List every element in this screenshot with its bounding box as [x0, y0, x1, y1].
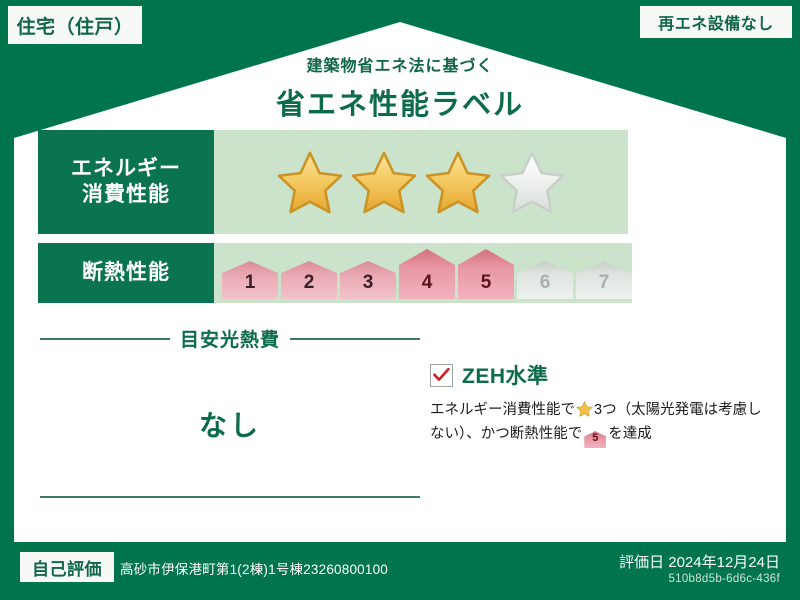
zeh-title: ZEH水準	[462, 360, 549, 390]
insulation-level-6: 6	[517, 261, 573, 299]
utility-cost-value: なし	[40, 404, 420, 444]
utility-cost-underline	[40, 496, 420, 498]
energy-performance-label: エネルギー 消費性能	[38, 130, 214, 234]
inline-star-icon	[576, 401, 593, 417]
utility-cost-heading: 目安光熱費	[40, 325, 420, 352]
energy-performance-value	[214, 130, 628, 234]
label-footer: 自己評価 高砂市伊保港町第1(2棟)1号棟23260800100 評価日 202…	[0, 542, 800, 600]
badge-evaluation-type: 自己評価	[20, 552, 114, 582]
heading-rule-left	[40, 338, 170, 340]
footer-address: 高砂市伊保港町第1(2棟)1号棟23260800100	[120, 558, 388, 578]
energy-label-line2: 消費性能	[82, 182, 170, 208]
zeh-description: エネルギー消費性能で 3つ（太陽光発電は考慮しない）、かつ断熱性能で5を達成	[430, 399, 766, 448]
badge-dwelling-type: 住宅（住戸）	[8, 6, 142, 44]
zeh-checkbox[interactable]	[430, 364, 453, 387]
insulation-label-text: 断熱性能	[82, 260, 170, 286]
insulation-level-7: 7	[576, 261, 632, 299]
star-empty-icon	[498, 150, 566, 215]
page-title-block: 建築物省エネ法に基づく 省エネ性能ラベル	[0, 52, 800, 123]
insulation-level-4: 4	[399, 249, 455, 299]
insulation-performance-row: 断熱性能 1234567	[38, 243, 628, 303]
star-filled-icon	[350, 150, 418, 215]
footer-label-id: 510b8d5b-6d6c-436f	[668, 573, 780, 585]
badge-renewable-equipment: 再エネ設備なし	[640, 6, 792, 38]
insulation-level-1: 1	[222, 261, 278, 299]
utility-cost-section: 目安光熱費 なし	[40, 325, 420, 498]
insulation-level-3: 3	[340, 261, 396, 299]
zeh-desc-part3: を達成	[608, 426, 652, 442]
zeh-desc-part1: エネルギー消費性能で	[430, 402, 575, 418]
heading-rule-right	[290, 338, 420, 340]
zeh-title-row: ZEH水準	[430, 360, 766, 390]
star-rating	[276, 150, 566, 215]
utility-cost-title: 目安光熱費	[180, 325, 280, 352]
insulation-performance-value: 1234567	[214, 243, 632, 303]
page-subtitle: 建築物省エネ法に基づく	[0, 52, 800, 76]
performance-section: エネルギー 消費性能 断熱性能 1234567	[38, 130, 628, 312]
check-icon	[433, 368, 450, 382]
insulation-scale: 1234567	[222, 247, 632, 299]
energy-performance-label: 住宅（住戸） 再エネ設備なし 建築物省エネ法に基づく 省エネ性能ラベル エネルギ…	[0, 0, 800, 600]
star-filled-icon	[276, 150, 344, 215]
energy-label-line1: エネルギー	[71, 156, 181, 182]
star-filled-icon	[424, 150, 492, 215]
insulation-level-2: 2	[281, 261, 337, 299]
zeh-section: ZEH水準 エネルギー消費性能で 3つ（太陽光発電は考慮しない）、かつ断熱性能で…	[430, 360, 766, 448]
zeh-insulation-badge: 5	[584, 431, 606, 448]
insulation-level-5: 5	[458, 249, 514, 299]
page-title: 省エネ性能ラベル	[0, 81, 800, 123]
energy-performance-row: エネルギー 消費性能	[38, 130, 628, 234]
footer-evaluation-date: 評価日 2024年12月24日	[619, 551, 780, 572]
insulation-performance-label: 断熱性能	[38, 243, 214, 303]
